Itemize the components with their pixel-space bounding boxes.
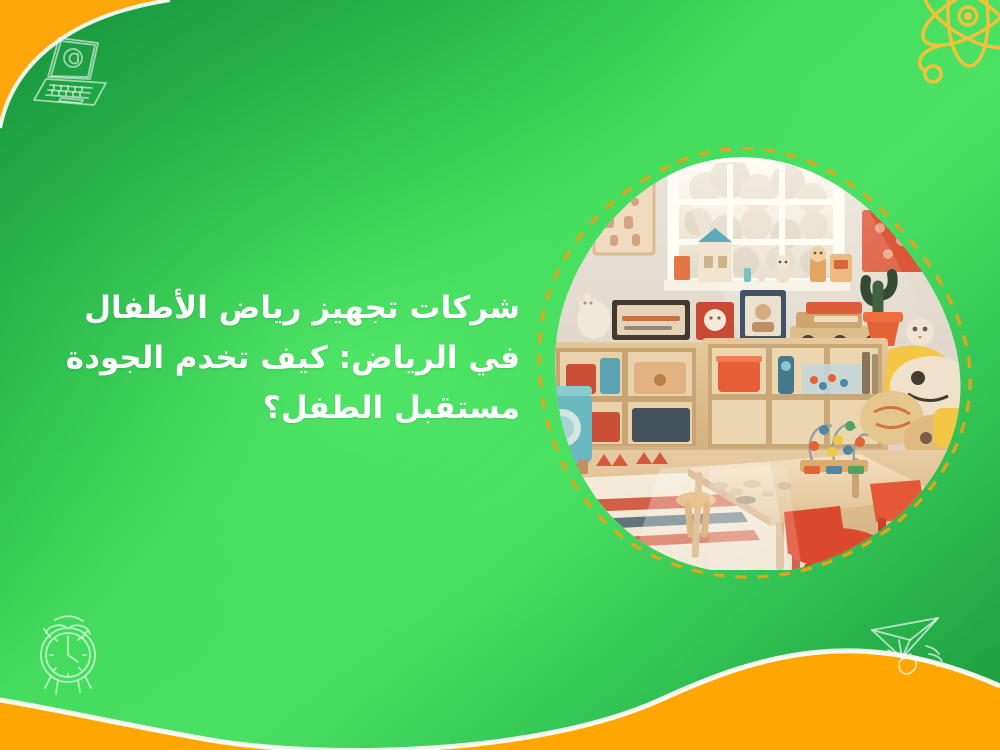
poster-canvas: شركات تجهيز رياض الأطفال في الرياض: كيف …	[0, 0, 1000, 750]
classroom-photo	[540, 150, 970, 570]
headline-line-3: مستقبل الطفل؟	[50, 383, 520, 433]
atom-icon	[900, 0, 1000, 90]
laptop-icon	[28, 30, 120, 108]
paper-plane-icon	[866, 610, 974, 688]
page-title: شركات تجهيز رياض الأطفال في الرياض: كيف …	[50, 283, 520, 434]
headline-line-2: في الرياض: كيف تخدم الجودة	[50, 333, 520, 383]
alarm-clock-icon	[22, 608, 114, 696]
headline-line-1: شركات تجهيز رياض الأطفال	[50, 283, 520, 333]
